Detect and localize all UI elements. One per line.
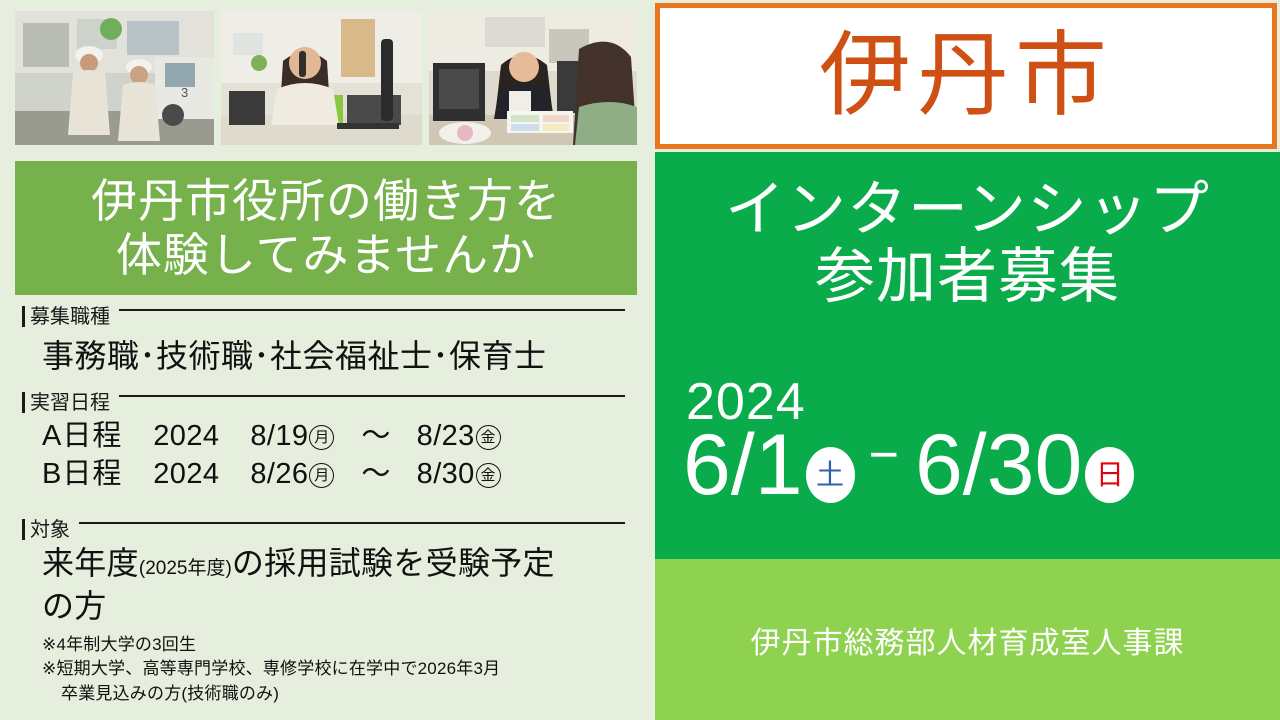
schedule-row-year: 2024: [153, 420, 219, 452]
section-target-header: 対象: [0, 519, 651, 540]
poster-root: 3: [0, 0, 1280, 720]
application-period: 6/1 土 − 6/30 日: [683, 425, 1280, 507]
schedule-row-start-day: 月: [309, 425, 334, 450]
period-end-day-badge: 日: [1085, 447, 1134, 503]
schedule-row-end-day: 金: [476, 463, 501, 488]
target-main-paren: (2025年度): [139, 558, 232, 579]
photo-strip: 3: [15, 11, 637, 145]
city-logo: 伊丹市: [655, 3, 1277, 149]
section-jobs-body: 事務職･技術職･社会福祉士･保育士: [0, 331, 651, 377]
section-schedule-title: 実習日程: [30, 393, 110, 413]
section-target-title: 対象: [30, 520, 70, 540]
photo-counter-service: [429, 11, 637, 145]
photo-counter-service-image: [429, 11, 637, 145]
section-jobs-title: 募集職種: [30, 307, 110, 327]
schedule-row: B日程 2024 8/26月 〜 8/30金: [42, 455, 651, 493]
section-divider-rule: [79, 522, 625, 524]
jobs-value: 事務職･技術職･社会福祉士･保育士: [42, 331, 651, 377]
headline-line-1: 伊丹市役所の働き方を: [91, 175, 561, 227]
photo-field-workers-image: 3: [15, 11, 214, 145]
schedule-row-start: 8/19: [250, 420, 308, 452]
section-marker-bar: [22, 392, 25, 413]
department-name: 伊丹市総務部人材育成室人事課: [751, 618, 1185, 662]
period-start-date: 6/1: [683, 425, 803, 507]
section-target: 対象 来年度(2025年度)の採用試験を受験予定 の方 ※4年制大学の3回生 ※…: [0, 519, 651, 706]
section-target-body: 来年度(2025年度)の採用試験を受験予定 の方 ※4年制大学の3回生 ※短期大…: [0, 545, 651, 706]
schedule-row-separator: 〜: [361, 458, 390, 490]
main-title-line-1: インターンシップ: [655, 176, 1280, 243]
schedule-row-year: 2024: [153, 458, 219, 490]
section-schedule-body: A日程 2024 8/19月 〜 8/23金 B日程 2024 8/26月: [0, 417, 651, 494]
schedule-row-start-day: 月: [309, 463, 334, 488]
section-divider-rule: [119, 309, 625, 311]
target-note: 卒業見込みの方(技術職のみ): [42, 682, 651, 707]
headline-banner: 伊丹市役所の働き方を 体験してみませんか: [15, 161, 637, 295]
target-notes: ※4年制大学の3回生 ※短期大学、高等専門学校、専修学校に在学中で2026年3月…: [42, 633, 651, 707]
target-main-prefix: 来年度: [42, 545, 139, 581]
section-schedule-header: 実習日程: [0, 392, 651, 413]
period-end-date: 6/30: [915, 425, 1082, 507]
schedule-row-end: 8/30: [417, 458, 475, 490]
target-main-suffix: の採用試験を受験予定: [232, 545, 555, 581]
schedule-row: A日程 2024 8/19月 〜 8/23金: [42, 417, 651, 455]
announcement-panel: インターンシップ 参加者募集 2024 6/1 土 − 6/30 日: [655, 152, 1280, 559]
schedule-row-start: 8/26: [250, 458, 308, 490]
target-note: ※4年制大学の3回生: [42, 633, 651, 658]
left-column: 3: [0, 0, 651, 720]
section-marker-bar: [22, 519, 25, 540]
photo-field-workers: 3: [15, 11, 214, 145]
section-marker-bar: [22, 306, 25, 327]
svg-text:3: 3: [181, 85, 188, 100]
schedule-row-separator: 〜: [361, 420, 390, 452]
headline-line-2: 体験してみませんか: [116, 229, 536, 281]
section-schedule: 実習日程 A日程 2024 8/19月 〜 8/23金 B日程: [0, 392, 651, 494]
section-jobs: 募集職種 事務職･技術職･社会福祉士･保育士: [0, 306, 651, 377]
target-main-text: 来年度(2025年度)の採用試験を受験予定: [42, 545, 651, 583]
period-start-day-badge: 土: [806, 447, 855, 503]
footer-panel: 伊丹市総務部人材育成室人事課: [655, 559, 1280, 720]
city-logo-text: 伊丹市: [819, 30, 1113, 122]
target-main-line2: の方: [42, 588, 651, 626]
section-jobs-header: 募集職種: [0, 306, 651, 327]
period-dash: −: [869, 429, 899, 481]
main-title-line-2: 参加者募集: [655, 243, 1280, 310]
photo-office-phone: [221, 11, 422, 145]
photo-office-phone-image: [221, 11, 422, 145]
schedule-row-end: 8/23: [417, 420, 475, 452]
section-divider-rule: [119, 395, 625, 397]
target-note: ※短期大学、高等専門学校、専修学校に在学中で2026年3月: [42, 657, 651, 682]
right-column: 伊丹市 インターンシップ 参加者募集 2024 6/1 土 − 6/30 日 伊…: [651, 0, 1280, 720]
schedule-row-label: B日程: [42, 458, 122, 490]
main-title: インターンシップ 参加者募集: [655, 176, 1280, 310]
schedule-row-label: A日程: [42, 420, 122, 452]
schedule-row-end-day: 金: [476, 425, 501, 450]
